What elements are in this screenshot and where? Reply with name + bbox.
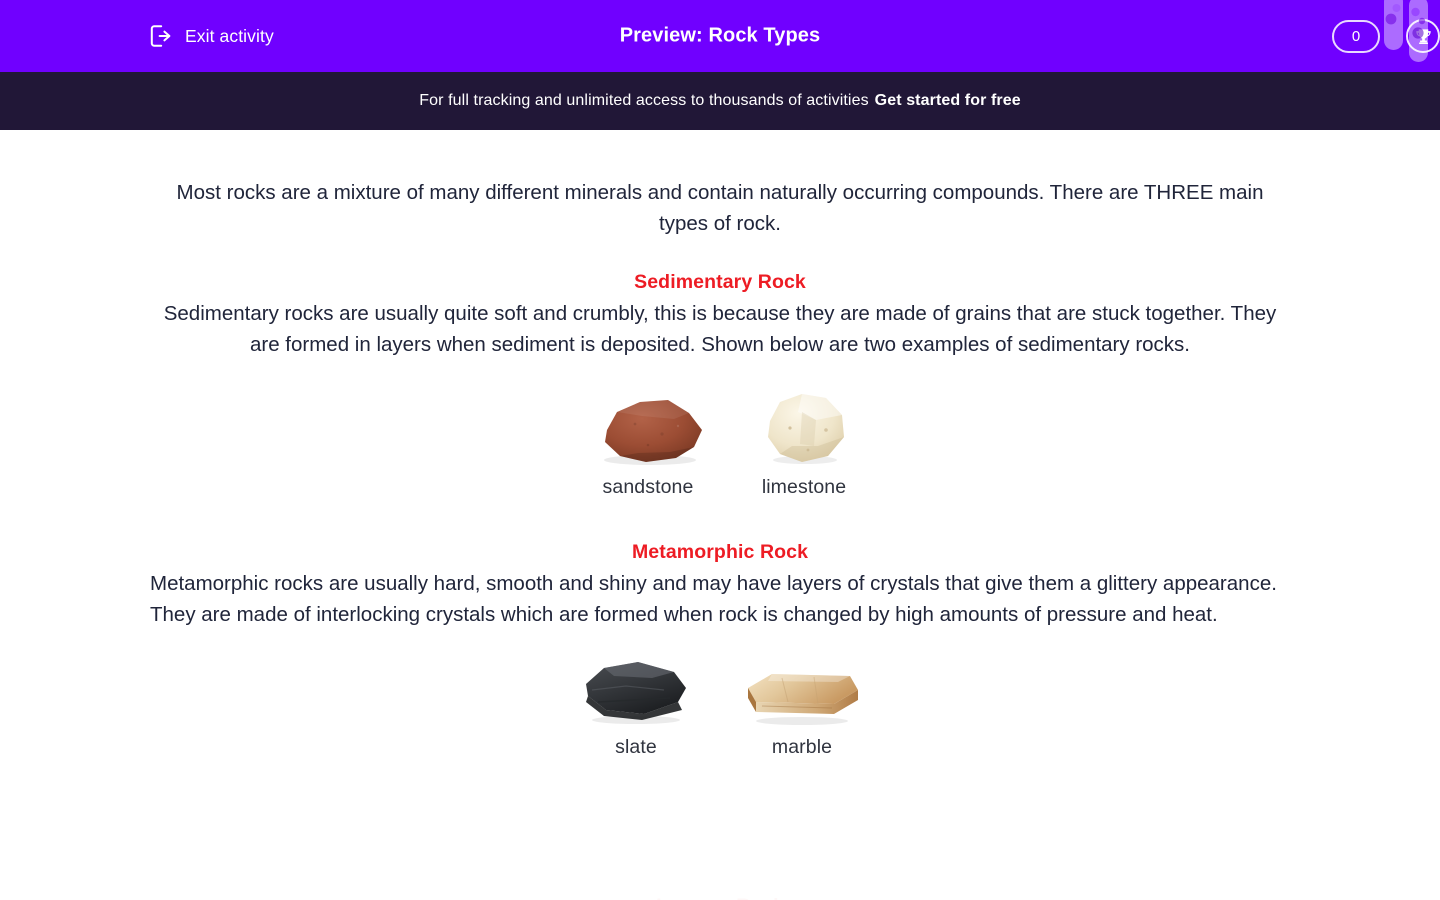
specimen-slate: slate xyxy=(578,658,694,759)
slate-photo xyxy=(578,658,694,726)
promo-banner: For full tracking and unlimited access t… xyxy=(0,72,1440,130)
exit-activity-label: Exit activity xyxy=(185,26,274,47)
intro-paragraph: Most rocks are a mixture of many differe… xyxy=(150,177,1290,239)
promo-banner-text: For full tracking and unlimited access t… xyxy=(419,92,868,110)
sandstone-photo xyxy=(590,390,706,466)
specimen-caption-sandstone: sandstone xyxy=(603,476,694,499)
exit-activity-button[interactable]: Exit activity xyxy=(148,23,274,49)
specimen-row-metamorphic: slate xyxy=(150,658,1290,759)
trophy-button[interactable] xyxy=(1406,19,1440,53)
exit-arrow-icon xyxy=(148,23,174,49)
lesson-content: Most rocks are a mixture of many differe… xyxy=(0,130,1440,900)
app-header: Exit activity Preview: Rock Types 0 xyxy=(0,0,1440,72)
section-body-metamorphic: Metamorphic rocks are usually hard, smoo… xyxy=(150,568,1290,630)
specimen-marble: marble xyxy=(742,668,862,759)
section-heading-sedimentary: Sedimentary Rock xyxy=(150,271,1290,294)
section-heading-metamorphic: Metamorphic Rock xyxy=(150,541,1290,564)
specimen-caption-marble: marble xyxy=(772,736,832,759)
specimen-sandstone: sandstone xyxy=(590,390,706,499)
marble-photo xyxy=(742,668,862,726)
trophy-icon xyxy=(1414,27,1433,46)
next-section-heading-partial: Igneous Rock xyxy=(0,894,1440,900)
score-badge[interactable]: 0 xyxy=(1332,20,1380,53)
section-body-sedimentary: Sedimentary rocks are usually quite soft… xyxy=(150,298,1290,360)
score-value: 0 xyxy=(1352,28,1360,45)
specimen-caption-limestone: limestone xyxy=(762,476,846,499)
specimen-limestone: limestone xyxy=(758,388,850,499)
limestone-photo xyxy=(758,388,850,466)
get-started-link[interactable]: Get started for free xyxy=(875,92,1021,110)
specimen-row-sedimentary: sandstone xyxy=(150,388,1290,499)
specimen-caption-slate: slate xyxy=(615,736,657,759)
header-actions: 0 xyxy=(1332,0,1440,72)
